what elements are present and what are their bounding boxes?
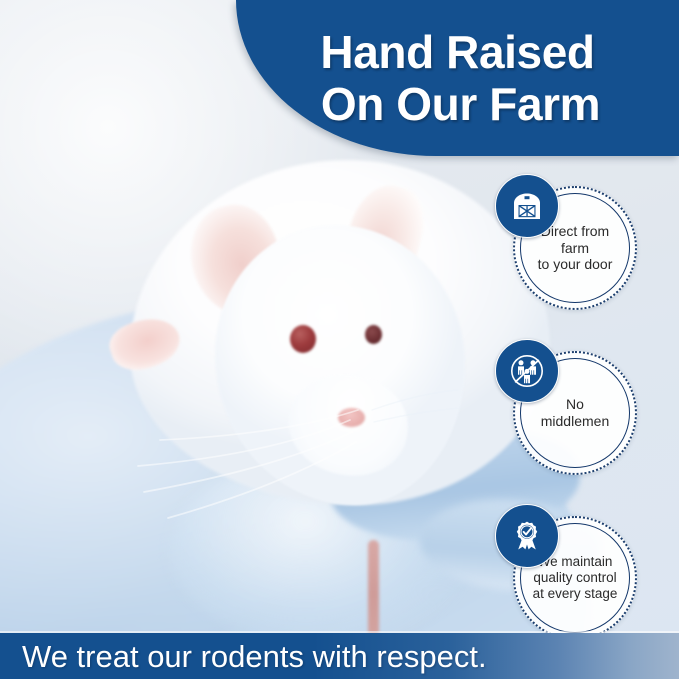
feature-badge-no-middlemen: No middlemen [513,351,637,475]
header-title-line2: On Our Farm [321,78,600,130]
feature-badge-quality-control: We maintain quality control at every sta… [513,516,637,640]
barn-icon [495,174,559,238]
header-title-line1: Hand Raised [320,26,594,78]
mouse-whiskers-icon [120,380,460,530]
footer-tagline: We treat our rodents with respect. [0,641,487,672]
footer-banner: We treat our rodents with respect. [0,633,679,679]
feature-badge-direct-from-farm: Direct from farm to your door [513,186,637,310]
badge-label: No middlemen [541,396,609,429]
mouse-eye-left [290,325,316,353]
no-middlemen-icon [495,339,559,403]
quality-award-icon [495,504,559,568]
mouse-eye-right [365,325,382,344]
product-infographic-poster: Hand Raised On Our Farm Direct from farm… [0,0,679,679]
